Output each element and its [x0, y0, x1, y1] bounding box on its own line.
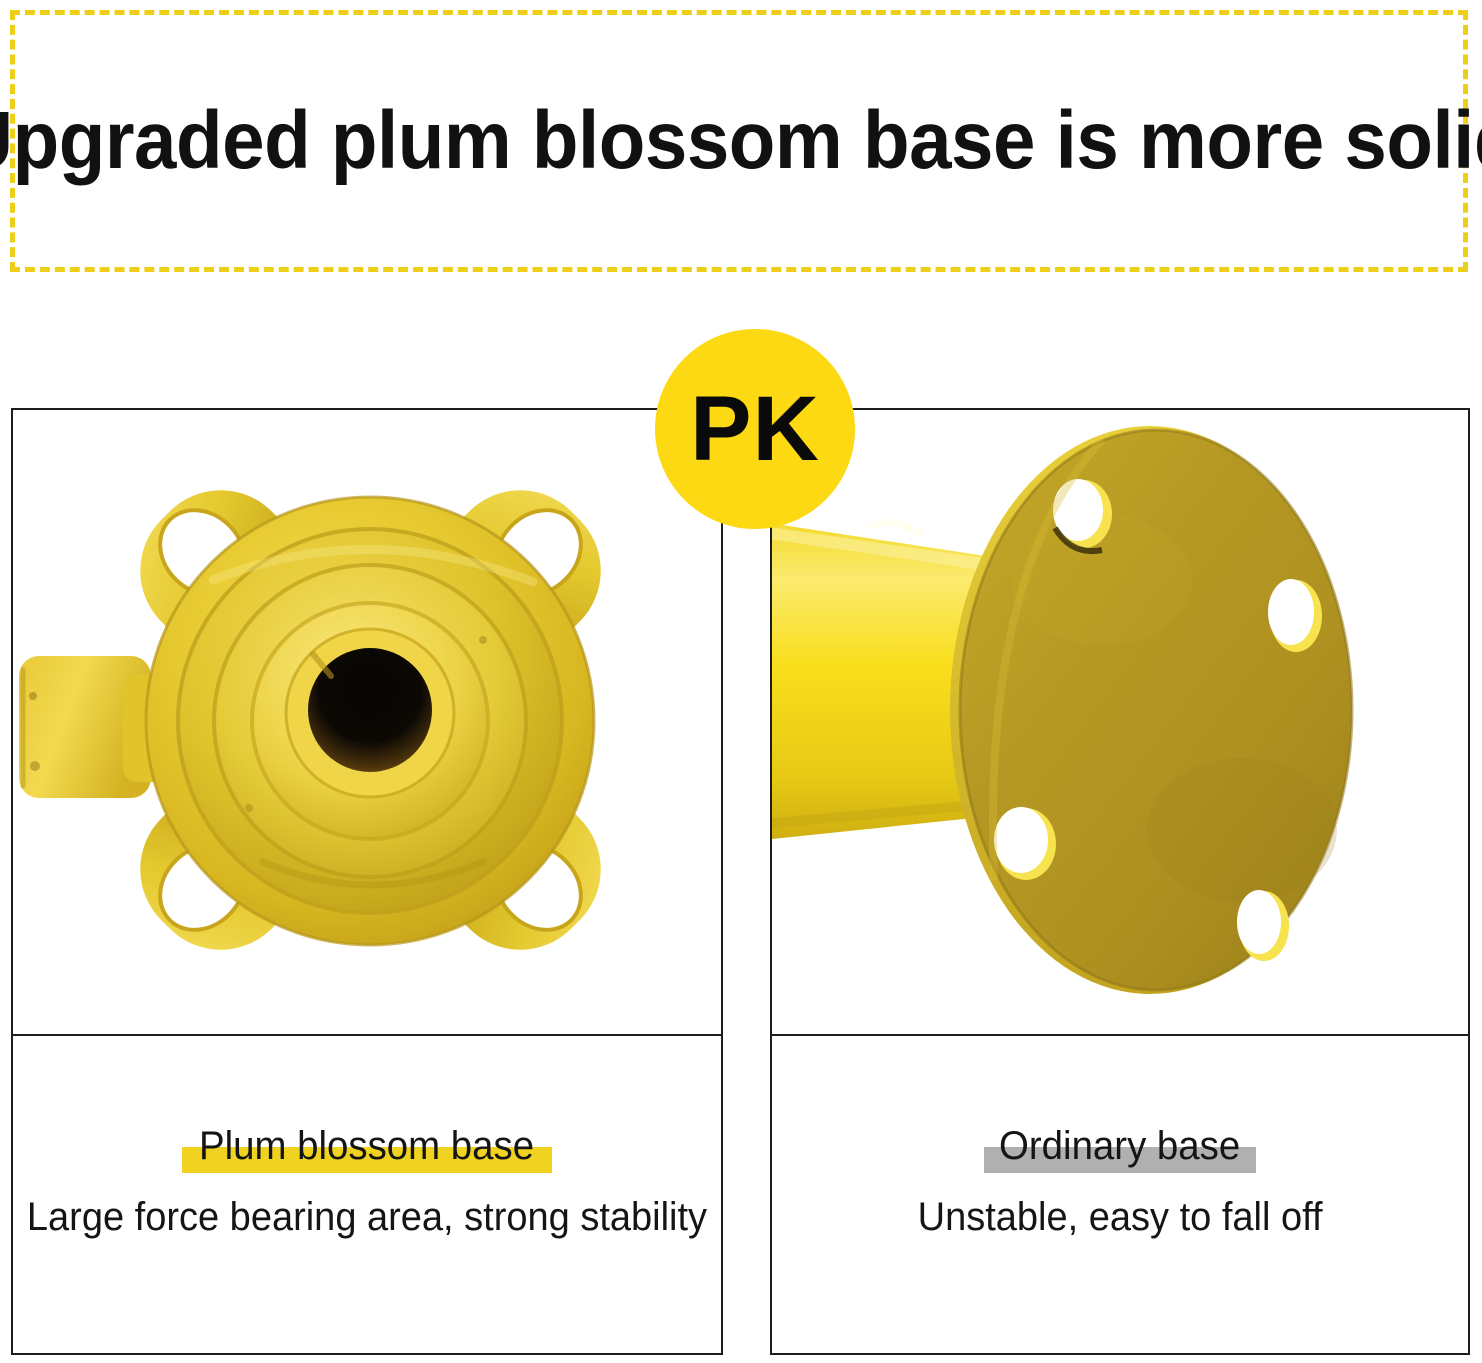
- ordinary-base-panel: Ordinary base Unstable, easy to fall off: [770, 408, 1470, 1355]
- caption-title-wrap: Plum blossom base: [192, 1124, 541, 1169]
- caption-title-wrap: Ordinary base: [994, 1124, 1245, 1169]
- plum-blossom-base-panel: Plum blossom base Large force bearing ar…: [11, 408, 723, 1355]
- ordinary-base-image: [772, 410, 1468, 1034]
- pk-badge-label: PK: [690, 383, 820, 475]
- flange-disc: [950, 426, 1352, 994]
- ordinary-base-illustration: [772, 410, 1468, 1034]
- caption-title: Ordinary base: [999, 1124, 1240, 1169]
- ordinary-base-caption: Ordinary base Unstable, easy to fall off: [772, 1036, 1468, 1353]
- plum-blossom-base-illustration: [13, 410, 721, 1034]
- plum-blossom-base-image: [13, 410, 721, 1034]
- header-banner: Upgraded plum blossom base is more solid: [10, 10, 1468, 272]
- plum-blossom-base-caption: Plum blossom base Large force bearing ar…: [13, 1036, 721, 1353]
- caption-title: Plum blossom base: [199, 1124, 534, 1169]
- caption-subtitle: Large force bearing area, strong stabili…: [27, 1195, 707, 1240]
- pk-comparison-badge: PK: [655, 329, 855, 529]
- caption-subtitle: Unstable, easy to fall off: [918, 1195, 1323, 1240]
- page-title: Upgraded plum blossom base is more solid: [66, 15, 1413, 267]
